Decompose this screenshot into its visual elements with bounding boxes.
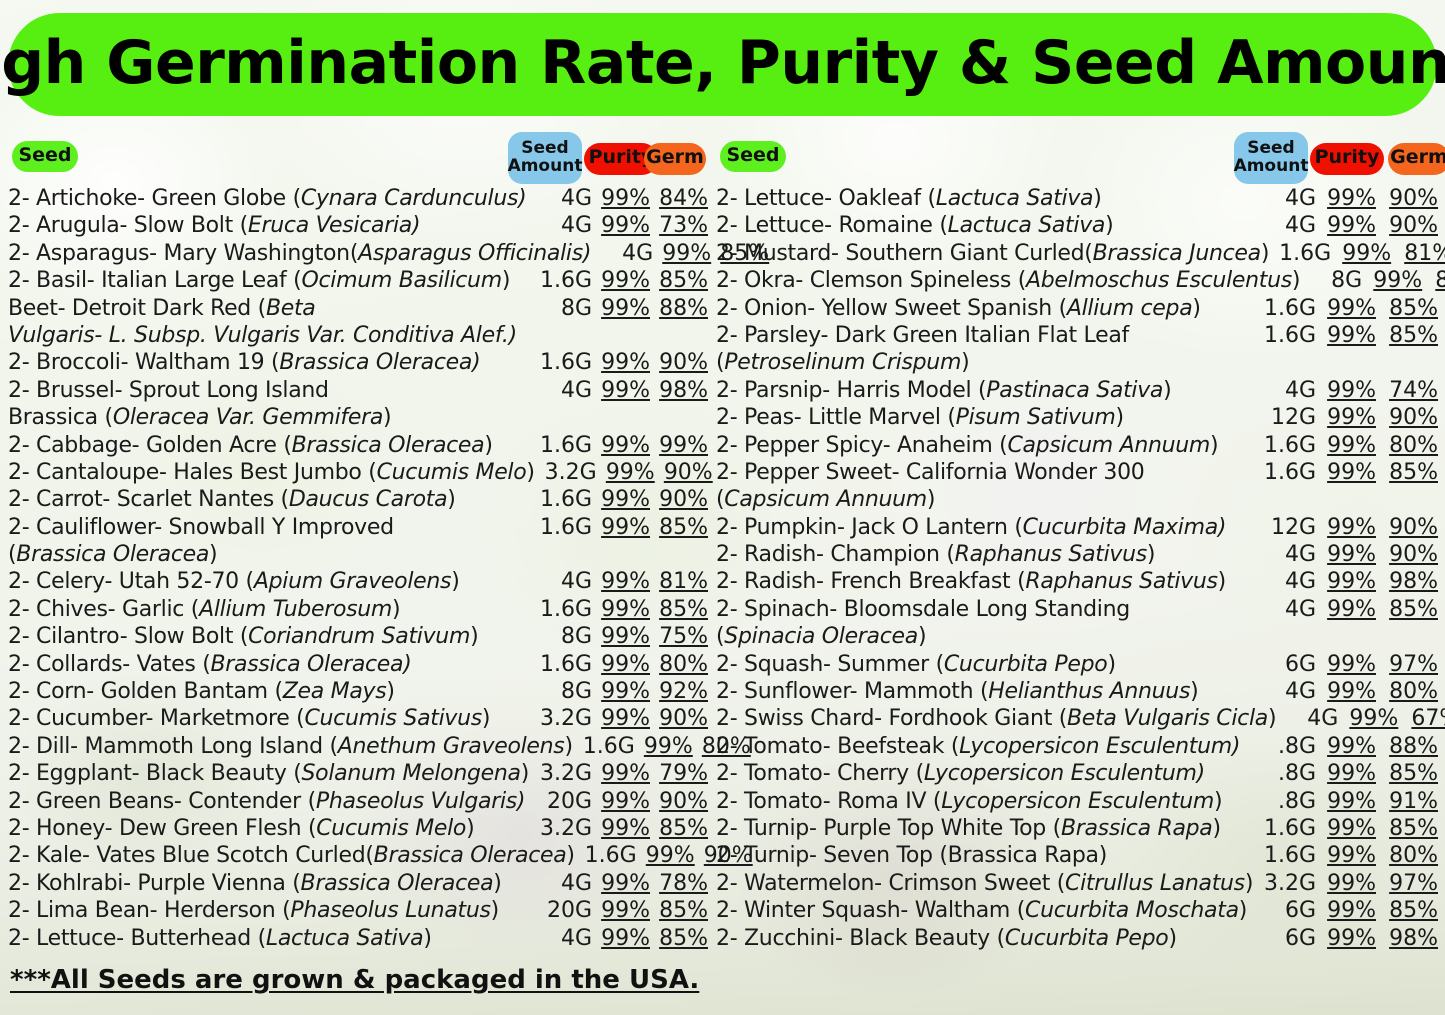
purity-value: 99% bbox=[1331, 241, 1391, 266]
seed-scientific-name: Brassica Oleracea) bbox=[211, 652, 412, 677]
seed-scientific-name: Cucumis Sativus bbox=[304, 706, 481, 731]
seed-name: 2- Cantaloupe- Hales Best Jumbo (Cucumis… bbox=[8, 460, 535, 485]
germination-value: 80% bbox=[1376, 433, 1438, 458]
seed-row: 2- Tomato- Roma IV (Lycopersicon Esculen… bbox=[716, 789, 1438, 816]
seed-amount-value: 3.2G bbox=[530, 816, 592, 841]
seed-row: 2- Basil- Italian Large Leaf (Ocimum Bas… bbox=[8, 268, 708, 295]
seed-name: 2- Chives- Garlic (Allium Tuberosum) bbox=[8, 597, 530, 622]
seed-name: 2- Pumpkin- Jack O Lantern (Cucurbita Ma… bbox=[716, 515, 1254, 540]
seed-scientific-name: Oleracea Var. Gemmifera bbox=[113, 405, 383, 430]
purity-value: 99% bbox=[1316, 871, 1376, 896]
seed-row: 2- Cauliflower- Snowball Y Improved1.6G9… bbox=[8, 515, 708, 542]
germination-value: 85% bbox=[650, 515, 708, 540]
germination-value: 79% bbox=[650, 761, 708, 786]
seed-scientific-name: Pastinaca Sativa bbox=[986, 378, 1163, 403]
seed-amount-value: 4G bbox=[1254, 542, 1316, 567]
seed-name: 2- Collards- Vates (Brassica Oleracea) bbox=[8, 652, 530, 677]
seed-scientific-name: Apium Graveolens bbox=[254, 569, 451, 594]
seed-row: 2- Parsley- Dark Green Italian Flat Leaf… bbox=[716, 323, 1438, 350]
seed-name: 2- Basil- Italian Large Leaf (Ocimum Bas… bbox=[8, 268, 530, 293]
seed-row: 2- Sunflower- Mammoth (Helianthus Annuus… bbox=[716, 679, 1438, 706]
seed-scientific-name: Lycopersicon Esculentum) bbox=[924, 761, 1205, 786]
header-badge-seed-amount: Seed Amount bbox=[508, 132, 582, 184]
purity-value: 99% bbox=[1316, 652, 1376, 677]
usa-origin-note: ***All Seeds are grown & packaged in the… bbox=[10, 965, 699, 995]
seed-name: (Brassica Oleracea) bbox=[8, 542, 530, 567]
seed-name: 2- Tomato- Cherry (Lycopersicon Esculent… bbox=[716, 761, 1254, 786]
germination-value: 98% bbox=[1376, 926, 1438, 951]
purity-value: 99% bbox=[1316, 843, 1376, 868]
seed-name: 2- Brussel- Sprout Long Island bbox=[8, 378, 530, 403]
seed-row: 2- Collards- Vates (Brassica Oleracea)1.… bbox=[8, 652, 708, 679]
seed-row: 2- Lettuce- Butterhead (Lactuca Sativa)4… bbox=[8, 926, 708, 953]
purity-value: 99% bbox=[637, 843, 695, 868]
seed-row: 2- Squash- Summer (Cucurbita Pepo)6G99%9… bbox=[716, 652, 1438, 679]
purity-value: 99% bbox=[1338, 706, 1398, 731]
seed-amount-value: .8G bbox=[1254, 734, 1316, 759]
seed-name: Vulgaris- L. Subsp. Vulgaris Var. Condit… bbox=[8, 323, 530, 348]
germination-value: 92% bbox=[650, 679, 708, 704]
seed-row: Beet- Detroit Dark Red (Beta8G99%88% bbox=[8, 296, 708, 323]
seed-row: 2- Asparagus- Mary Washington(Asparagus … bbox=[8, 241, 708, 268]
germination-value: 85% bbox=[1376, 597, 1438, 622]
purity-value: 99% bbox=[1316, 789, 1376, 814]
seed-amount-value: 1.6G bbox=[530, 515, 592, 540]
seed-row: 2- Turnip- Seven Top (Brassica Rapa)1.6G… bbox=[716, 843, 1438, 870]
germination-value: 90% bbox=[1376, 186, 1438, 211]
seed-name: 2- Swiss Chard- Fordhook Giant (Beta Vul… bbox=[716, 706, 1276, 731]
seed-list-right-column: Seed Seed Amount Purity Germ 2- Lettuce-… bbox=[716, 132, 1438, 953]
seed-scientific-name: Asparagus Officinalis) bbox=[358, 241, 591, 266]
germination-value: 85% bbox=[1376, 460, 1438, 485]
seed-name: 2- Onion- Yellow Sweet Spanish (Allium c… bbox=[716, 296, 1254, 321]
seed-row: 2- Cantaloupe- Hales Best Jumbo (Cucumis… bbox=[8, 460, 708, 487]
purity-value: 99% bbox=[592, 569, 650, 594]
seed-name: 2- Peas- Little Marvel (Pisum Sativum) bbox=[716, 405, 1254, 430]
purity-value: 99% bbox=[1316, 460, 1376, 485]
seed-amount-value: 4G bbox=[1254, 213, 1316, 238]
seed-scientific-name: Petroselinum Crispum bbox=[724, 350, 961, 375]
seed-scientific-name: Cucumis Melo bbox=[377, 460, 527, 485]
seed-row: (Brassica Oleracea) bbox=[8, 542, 708, 569]
purity-value: 99% bbox=[1316, 734, 1376, 759]
seed-row: 2- Brussel- Sprout Long Island4G99%98% bbox=[8, 378, 708, 405]
germination-value: 85% bbox=[650, 898, 708, 923]
purity-value: 99% bbox=[592, 679, 650, 704]
germination-value: 80% bbox=[1376, 843, 1438, 868]
germination-value: 90% bbox=[650, 706, 708, 731]
germination-value: 80% bbox=[650, 652, 708, 677]
seed-amount-value: 4G bbox=[1254, 186, 1316, 211]
seed-scientific-name: Daucus Carota bbox=[289, 487, 447, 512]
seed-scientific-name: Brassica Juncea bbox=[1093, 241, 1261, 266]
seed-name: 2- Cilantro- Slow Bolt (Coriandrum Sativ… bbox=[8, 624, 530, 649]
seed-scientific-name: Allium Tuberosum bbox=[199, 597, 392, 622]
germination-value: 74% bbox=[1376, 378, 1438, 403]
seed-row: (Spinacia Oleracea) bbox=[716, 624, 1438, 651]
seed-row: 2- Lettuce- Romaine (Lactuca Sativa)4G99… bbox=[716, 213, 1438, 240]
purity-value: 99% bbox=[1316, 433, 1376, 458]
seed-amount-value: 3.2G bbox=[530, 761, 592, 786]
seed-scientific-name: Spinacia Oleracea bbox=[724, 624, 918, 649]
seed-row: 2- Corn- Golden Bantam (Zea Mays)8G99%92… bbox=[8, 679, 708, 706]
seed-row: 2- Broccoli- Waltham 19 (Brassica Olerac… bbox=[8, 350, 708, 377]
purity-value: 99% bbox=[592, 761, 650, 786]
germination-value: 90% bbox=[1376, 405, 1438, 430]
germination-value: 85% bbox=[650, 268, 708, 293]
seed-name: 2- Mustard- Southern Giant Curled(Brassi… bbox=[716, 241, 1269, 266]
seed-scientific-name: Cucumis Melo bbox=[316, 816, 466, 841]
seed-amount-value: 4G bbox=[530, 186, 592, 211]
seed-scientific-name: Brassica Oleracea bbox=[16, 542, 209, 567]
header-badge-germ: Germ bbox=[644, 143, 706, 175]
seed-amount-value: 1.6G bbox=[530, 652, 592, 677]
seed-scientific-name: Beta Vulgaris Cicla bbox=[1067, 706, 1268, 731]
seed-amount-value: 4G bbox=[1254, 679, 1316, 704]
purity-value: 99% bbox=[1316, 515, 1376, 540]
seed-amount-value: 1.6G bbox=[1254, 843, 1316, 868]
germination-value: 67% bbox=[1398, 706, 1445, 731]
seed-name: (Spinacia Oleracea) bbox=[716, 624, 1254, 649]
column-header-left: Seed Seed Amount Purity Germ bbox=[8, 132, 708, 186]
seed-name: 2- Kohlrabi- Purple Vienna (Brassica Ole… bbox=[8, 871, 530, 896]
seed-amount-value: 20G bbox=[530, 789, 592, 814]
seed-amount-value: 4G bbox=[530, 213, 592, 238]
purity-value: 99% bbox=[653, 241, 711, 266]
header-badge-seed-amount-line2: Amount bbox=[1234, 158, 1309, 176]
seed-row: 2- Tomato- Cherry (Lycopersicon Esculent… bbox=[716, 761, 1438, 788]
purity-value: 99% bbox=[1316, 926, 1376, 951]
purity-value: 99% bbox=[592, 624, 650, 649]
seed-scientific-name: Coriandrum Sativum bbox=[248, 624, 470, 649]
germination-value: 85% bbox=[1376, 296, 1438, 321]
germination-value: 88% bbox=[650, 296, 708, 321]
seed-name: 2- Dill- Mammoth Long Island (Anethum Gr… bbox=[8, 734, 573, 759]
germination-value: 99% bbox=[650, 433, 708, 458]
seed-row: 2- Radish- Champion (Raphanus Sativus)4G… bbox=[716, 542, 1438, 569]
germination-value: 85% bbox=[1376, 761, 1438, 786]
seed-name: 2- Radish- Champion (Raphanus Sativus) bbox=[716, 542, 1254, 567]
purity-value: 99% bbox=[592, 926, 650, 951]
germination-value: 90% bbox=[1376, 515, 1438, 540]
header-badge-germ: Germ bbox=[1388, 143, 1445, 175]
purity-value: 99% bbox=[592, 898, 650, 923]
seed-amount-value: 1.6G bbox=[1269, 241, 1331, 266]
seed-amount-value: 20G bbox=[530, 898, 592, 923]
seed-scientific-name: Lycopersicon Esculentum bbox=[941, 789, 1214, 814]
purity-value: 99% bbox=[1316, 597, 1376, 622]
seed-name: 2- Zucchini- Black Beauty (Cucurbita Pep… bbox=[716, 926, 1254, 951]
seed-row: 2- Peas- Little Marvel (Pisum Sativum)12… bbox=[716, 405, 1438, 432]
seed-scientific-name: Phaseolus Vulgaris) bbox=[316, 789, 525, 814]
seed-scientific-name: Raphanus Sativus bbox=[955, 542, 1147, 567]
seed-amount-value: 4G bbox=[530, 871, 592, 896]
germination-value: 85% bbox=[1422, 268, 1445, 293]
purity-value: 99% bbox=[597, 460, 655, 485]
seed-rows-left: 2- Artichoke- Green Globe (Cynara Cardun… bbox=[8, 186, 708, 953]
seed-scientific-name: Citrullus Lanatus bbox=[1065, 871, 1245, 896]
seed-amount-value: 4G bbox=[530, 569, 592, 594]
seed-name: 2- Parsley- Dark Green Italian Flat Leaf bbox=[716, 323, 1254, 348]
seed-name: 2- Cucumber- Marketmore (Cucumis Sativus… bbox=[8, 706, 530, 731]
purity-value: 99% bbox=[592, 487, 650, 512]
seed-amount-value: 3.2G bbox=[1254, 871, 1316, 896]
seed-amount-value: 4G bbox=[1276, 706, 1338, 731]
seed-row: 2- Honey- Dew Green Flesh (Cucumis Melo)… bbox=[8, 816, 708, 843]
seed-row: 2- Okra- Clemson Spineless (Abelmoschus … bbox=[716, 268, 1438, 295]
seed-name: (Capsicum Annuum) bbox=[716, 487, 1254, 512]
germination-value: 80% bbox=[1376, 679, 1438, 704]
seed-amount-value: 1.6G bbox=[530, 268, 592, 293]
seed-row: 2- Artichoke- Green Globe (Cynara Cardun… bbox=[8, 186, 708, 213]
purity-value: 99% bbox=[592, 350, 650, 375]
seed-scientific-name: Vulgaris- L. Subsp. Vulgaris Var. Condit… bbox=[8, 323, 517, 348]
seed-amount-value: 8G bbox=[530, 296, 592, 321]
germination-value: 90% bbox=[650, 789, 708, 814]
seed-scientific-name: Raphanus Sativus bbox=[1025, 569, 1217, 594]
seed-name: 2- Tomato- Roma IV (Lycopersicon Esculen… bbox=[716, 789, 1254, 814]
header-badge-purity: Purity bbox=[1310, 143, 1384, 175]
seed-name: 2- Kale- Vates Blue Scotch Curled(Brassi… bbox=[8, 843, 575, 868]
seed-specification-sheet: High Germination Rate, Purity & Seed Amo… bbox=[0, 0, 1445, 1015]
column-header-right: Seed Seed Amount Purity Germ bbox=[716, 132, 1438, 186]
seed-row: 2- Chives- Garlic (Allium Tuberosum)1.6G… bbox=[8, 597, 708, 624]
germination-value: 84% bbox=[650, 186, 708, 211]
seed-row: 2- Arugula- Slow Bolt (Eruca Vesicaria)4… bbox=[8, 213, 708, 240]
seed-scientific-name: Brassica Oleracea) bbox=[279, 350, 480, 375]
seed-row: 2- Winter Squash- Waltham (Cucurbita Mos… bbox=[716, 898, 1438, 925]
seed-scientific-name: Cucurbita Moschata bbox=[1025, 898, 1239, 923]
seed-name: 2- Honey- Dew Green Flesh (Cucumis Melo) bbox=[8, 816, 530, 841]
seed-amount-value: 12G bbox=[1254, 515, 1316, 540]
seed-name: 2- Carrot- Scarlet Nantes (Daucus Carota… bbox=[8, 487, 530, 512]
seed-name: 2- Radish- French Breakfast (Raphanus Sa… bbox=[716, 569, 1254, 594]
seed-amount-value: 1.6G bbox=[530, 487, 592, 512]
seed-row: 2- Green Beans- Contender (Phaseolus Vul… bbox=[8, 789, 708, 816]
seed-scientific-name: Ocimum Basilicum bbox=[301, 268, 501, 293]
seed-scientific-name: Lycopersicon Esculentum) bbox=[959, 734, 1240, 759]
seed-name: 2- Turnip- Seven Top (Brassica Rapa) bbox=[716, 843, 1254, 868]
germination-value: 85% bbox=[650, 597, 708, 622]
seed-amount-value: 8G bbox=[1300, 268, 1362, 293]
seed-amount-value: 6G bbox=[1254, 898, 1316, 923]
seed-name: 2- Pepper Spicy- Anaheim (Capsicum Annuu… bbox=[716, 433, 1254, 458]
seed-row: 2- Zucchini- Black Beauty (Cucurbita Pep… bbox=[716, 926, 1438, 953]
seed-row: 2- Dill- Mammoth Long Island (Anethum Gr… bbox=[8, 734, 708, 761]
purity-value: 99% bbox=[635, 734, 693, 759]
germination-value: 85% bbox=[1376, 323, 1438, 348]
seed-scientific-name: Lactuca Sativa bbox=[936, 186, 1093, 211]
header-badge-seed-amount: Seed Amount bbox=[1234, 132, 1308, 184]
seed-row: Brassica (Oleracea Var. Gemmifera) bbox=[8, 405, 708, 432]
seed-row: 2- Carrot- Scarlet Nantes (Daucus Carota… bbox=[8, 487, 708, 514]
seed-amount-value: 1.6G bbox=[530, 350, 592, 375]
purity-value: 99% bbox=[592, 213, 650, 238]
purity-value: 99% bbox=[1316, 542, 1376, 567]
seed-scientific-name: Abelmoschus Esculentus bbox=[1026, 268, 1292, 293]
seed-name: 2- Broccoli- Waltham 19 (Brassica Olerac… bbox=[8, 350, 530, 375]
seed-scientific-name: Helianthus Annuus bbox=[988, 679, 1190, 704]
seed-scientific-name: Lactuca Sativa bbox=[266, 926, 423, 951]
seed-amount-value: 1.6G bbox=[1254, 460, 1316, 485]
seed-scientific-name: Brassica Oleracea bbox=[301, 871, 494, 896]
seed-row: 2- Lettuce- Oakleaf (Lactuca Sativa)4G99… bbox=[716, 186, 1438, 213]
seed-amount-value: 1.6G bbox=[575, 843, 637, 868]
seed-scientific-name: Lactuca Sativa bbox=[948, 213, 1105, 238]
germination-value: 90% bbox=[655, 460, 713, 485]
purity-value: 99% bbox=[1316, 898, 1376, 923]
seed-name: 2- Spinach- Bloomsdale Long Standing bbox=[716, 597, 1254, 622]
title-banner: High Germination Rate, Purity & Seed Amo… bbox=[8, 13, 1437, 116]
seed-amount-value: 4G bbox=[530, 378, 592, 403]
seed-scientific-name: Pisum Sativum bbox=[956, 405, 1116, 430]
purity-value: 99% bbox=[592, 706, 650, 731]
seed-name: 2- Celery- Utah 52-70 (Apium Graveolens) bbox=[8, 569, 530, 594]
seed-row: 2- Cucumber- Marketmore (Cucumis Sativus… bbox=[8, 706, 708, 733]
seed-amount-value: 4G bbox=[1254, 378, 1316, 403]
seed-scientific-name: Solanum Melongena bbox=[302, 761, 521, 786]
seed-amount-value: 6G bbox=[1254, 652, 1316, 677]
seed-row: 2- Celery- Utah 52-70 (Apium Graveolens)… bbox=[8, 569, 708, 596]
purity-value: 99% bbox=[592, 296, 650, 321]
seed-scientific-name: Beta bbox=[266, 296, 316, 321]
seed-row: 2- Watermelon- Crimson Sweet (Citrullus … bbox=[716, 871, 1438, 898]
seed-name: 2- Cauliflower- Snowball Y Improved bbox=[8, 515, 530, 540]
germination-value: 90% bbox=[1376, 542, 1438, 567]
seed-row: 2- Turnip- Purple Top White Top (Brassic… bbox=[716, 816, 1438, 843]
seed-row: 2- Eggplant- Black Beauty (Solanum Melon… bbox=[8, 761, 708, 788]
seed-scientific-name: Eruca Vesicaria) bbox=[248, 213, 420, 238]
seed-row: 2- Kale- Vates Blue Scotch Curled(Brassi… bbox=[8, 843, 708, 870]
seed-scientific-name: Cucurbita Pepo bbox=[1005, 926, 1169, 951]
germination-value: 90% bbox=[650, 487, 708, 512]
germination-value: 97% bbox=[1376, 652, 1438, 677]
seed-scientific-name: Allium cepa bbox=[1067, 296, 1193, 321]
seed-amount-value: 1.6G bbox=[1254, 816, 1316, 841]
seed-name: 2- Winter Squash- Waltham (Cucurbita Mos… bbox=[716, 898, 1254, 923]
seed-name: 2- Parsnip- Harris Model (Pastinaca Sati… bbox=[716, 378, 1254, 403]
purity-value: 99% bbox=[592, 871, 650, 896]
germination-value: 85% bbox=[1376, 898, 1438, 923]
seed-scientific-name: Zea Mays bbox=[283, 679, 387, 704]
seed-amount-value: 1.6G bbox=[530, 597, 592, 622]
purity-value: 99% bbox=[1362, 268, 1422, 293]
seed-amount-value: .8G bbox=[1254, 761, 1316, 786]
seed-name: 2- Cabbage- Golden Acre (Brassica Olerac… bbox=[8, 433, 530, 458]
purity-value: 99% bbox=[1316, 323, 1376, 348]
germination-value: 85% bbox=[650, 926, 708, 951]
seed-scientific-name: Cucurbita Pepo bbox=[944, 652, 1108, 677]
purity-value: 99% bbox=[1316, 761, 1376, 786]
purity-value: 99% bbox=[592, 515, 650, 540]
seed-name: 2- Green Beans- Contender (Phaseolus Vul… bbox=[8, 789, 530, 814]
seed-amount-value: 1.6G bbox=[1254, 433, 1316, 458]
seed-row: Vulgaris- L. Subsp. Vulgaris Var. Condit… bbox=[8, 323, 708, 350]
seed-scientific-name: Capsicum Annuum bbox=[1007, 433, 1210, 458]
seed-row: 2- Spinach- Bloomsdale Long Standing4G99… bbox=[716, 597, 1438, 624]
seed-name: 2- Lettuce- Romaine (Lactuca Sativa) bbox=[716, 213, 1254, 238]
seed-row: 2- Pepper Spicy- Anaheim (Capsicum Annuu… bbox=[716, 433, 1438, 460]
seed-name: 2- Squash- Summer (Cucurbita Pepo) bbox=[716, 652, 1254, 677]
seed-amount-value: .8G bbox=[1254, 789, 1316, 814]
seed-row: 2- Kohlrabi- Purple Vienna (Brassica Ole… bbox=[8, 871, 708, 898]
germination-value: 90% bbox=[1376, 213, 1438, 238]
seed-amount-value: 3.2G bbox=[535, 460, 597, 485]
germination-value: 73% bbox=[650, 213, 708, 238]
seed-scientific-name: Cynara Cardunculus) bbox=[301, 186, 527, 211]
header-badge-seed: Seed bbox=[720, 141, 786, 172]
seed-row: 2- Cilantro- Slow Bolt (Coriandrum Sativ… bbox=[8, 624, 708, 651]
seed-scientific-name: Brassica Rapa bbox=[1061, 816, 1213, 841]
seed-name: Beet- Detroit Dark Red (Beta bbox=[8, 296, 530, 321]
seed-list-left-column: Seed Seed Amount Purity Germ 2- Artichok… bbox=[8, 132, 708, 953]
purity-value: 99% bbox=[1316, 405, 1376, 430]
germination-value: 81% bbox=[650, 569, 708, 594]
seed-name: 2- Pepper Sweet- California Wonder 300 bbox=[716, 460, 1254, 485]
seed-row: 2- Tomato- Beefsteak (Lycopersicon Escul… bbox=[716, 734, 1438, 761]
seed-amount-value: 4G bbox=[1254, 569, 1316, 594]
germination-value: 91% bbox=[1376, 789, 1438, 814]
purity-value: 99% bbox=[592, 652, 650, 677]
seed-amount-value: 8G bbox=[530, 679, 592, 704]
purity-value: 99% bbox=[1316, 296, 1376, 321]
seed-scientific-name: Capsicum Annuum bbox=[724, 487, 927, 512]
seed-scientific-name: Anethum Graveolens bbox=[338, 734, 565, 759]
header-badge-seed: Seed bbox=[12, 141, 78, 172]
seed-row: (Petroselinum Crispum) bbox=[716, 350, 1438, 377]
seed-scientific-name: Cucurbita Maxima) bbox=[1023, 515, 1227, 540]
seed-name: Brassica (Oleracea Var. Gemmifera) bbox=[8, 405, 530, 430]
seed-row: 2- Swiss Chard- Fordhook Giant (Beta Vul… bbox=[716, 706, 1438, 733]
purity-value: 99% bbox=[592, 816, 650, 841]
seed-row: 2- Mustard- Southern Giant Curled(Brassi… bbox=[716, 241, 1438, 268]
seed-row: 2- Pepper Sweet- California Wonder 3001.… bbox=[716, 460, 1438, 487]
seed-name: 2- Okra- Clemson Spineless (Abelmoschus … bbox=[716, 268, 1300, 293]
seed-row: 2- Parsnip- Harris Model (Pastinaca Sati… bbox=[716, 378, 1438, 405]
purity-value: 99% bbox=[592, 186, 650, 211]
germination-value: 97% bbox=[1376, 871, 1438, 896]
seed-amount-value: 12G bbox=[1254, 405, 1316, 430]
germination-value: 98% bbox=[1376, 569, 1438, 594]
purity-value: 99% bbox=[1316, 186, 1376, 211]
purity-value: 99% bbox=[1316, 569, 1376, 594]
germination-value: 88% bbox=[1376, 734, 1438, 759]
purity-value: 99% bbox=[592, 789, 650, 814]
seed-rows-right: 2- Lettuce- Oakleaf (Lactuca Sativa)4G99… bbox=[716, 186, 1438, 953]
seed-name: (Petroselinum Crispum) bbox=[716, 350, 1254, 375]
seed-row: 2- Onion- Yellow Sweet Spanish (Allium c… bbox=[716, 296, 1438, 323]
seed-name: 2- Lettuce- Butterhead (Lactuca Sativa) bbox=[8, 926, 530, 951]
germination-value: 81% bbox=[1391, 241, 1445, 266]
seed-name: 2- Tomato- Beefsteak (Lycopersicon Escul… bbox=[716, 734, 1254, 759]
seed-amount-value: 1.6G bbox=[573, 734, 635, 759]
seed-row: 2- Pumpkin- Jack O Lantern (Cucurbita Ma… bbox=[716, 515, 1438, 542]
germination-value: 90% bbox=[650, 350, 708, 375]
seed-amount-value: 6G bbox=[1254, 926, 1316, 951]
seed-scientific-name: Brassica Oleracea bbox=[292, 433, 485, 458]
seed-row: (Capsicum Annuum) bbox=[716, 487, 1438, 514]
germination-value: 85% bbox=[1376, 816, 1438, 841]
germination-value: 78% bbox=[650, 871, 708, 896]
seed-name: 2- Lima Bean- Herderson (Phaseolus Lunat… bbox=[8, 898, 530, 923]
germination-value: 85% bbox=[650, 816, 708, 841]
seed-scientific-name: Phaseolus Lunatus bbox=[290, 898, 490, 923]
seed-row: 2- Radish- French Breakfast (Raphanus Sa… bbox=[716, 569, 1438, 596]
seed-amount-value: 3.2G bbox=[530, 706, 592, 731]
title-pill: High Germination Rate, Purity & Seed Amo… bbox=[8, 13, 1437, 116]
page-title: High Germination Rate, Purity & Seed Amo… bbox=[0, 33, 1445, 97]
seed-name: 2- Sunflower- Mammoth (Helianthus Annuus… bbox=[716, 679, 1254, 704]
